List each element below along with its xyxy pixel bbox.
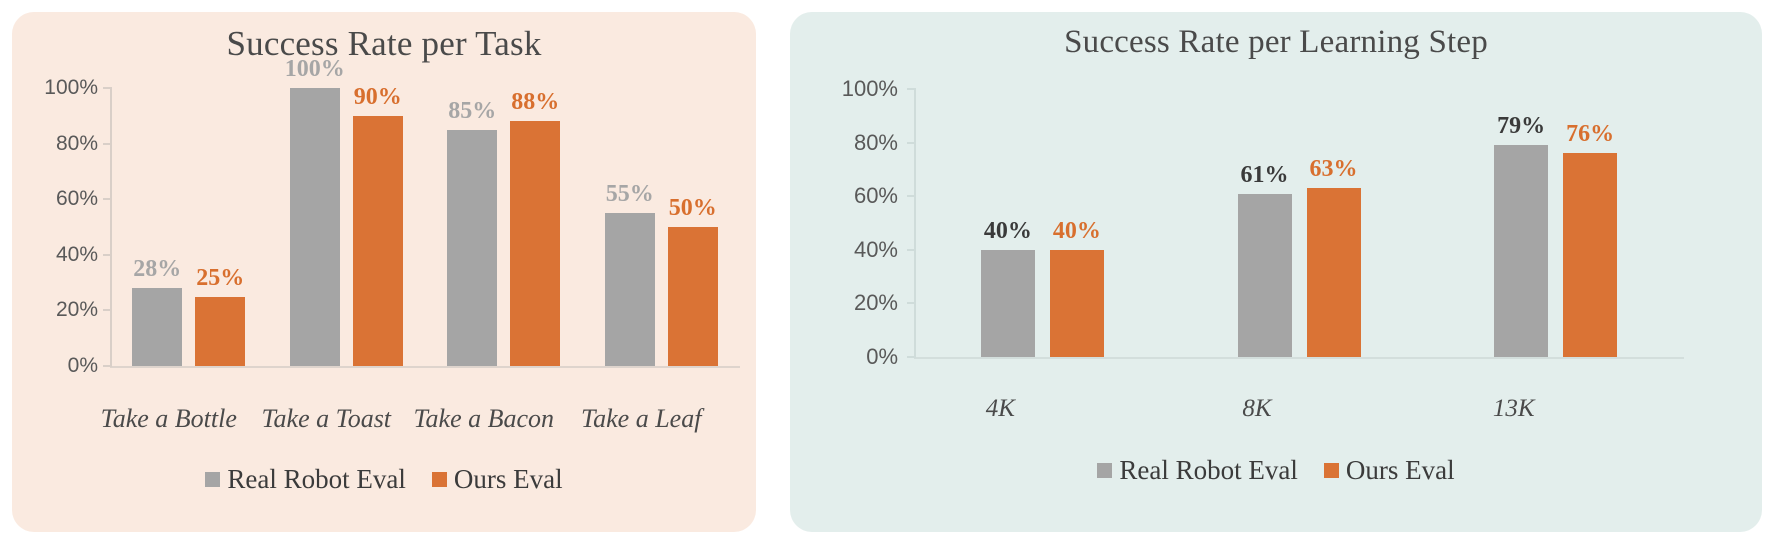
y-axis-tick-mark	[103, 87, 112, 89]
bar[interactable]	[290, 88, 340, 366]
legend-label: Real Robot Eval	[1119, 455, 1297, 486]
legend-item[interactable]: Ours Eval	[1324, 455, 1455, 486]
y-axis-tick-mark	[907, 195, 916, 197]
category-axis: Take a BottleTake a ToastTake a BaconTak…	[12, 400, 756, 450]
y-axis-tick-mark	[907, 142, 916, 144]
legend-item[interactable]: Ours Eval	[432, 464, 563, 495]
y-axis-tick-mark	[103, 365, 112, 367]
bar-value-label: 85%	[448, 98, 496, 125]
legend-swatch-icon	[1097, 463, 1112, 478]
bar[interactable]	[510, 121, 560, 366]
category-label: Take a Bottle	[101, 404, 237, 434]
bar[interactable]	[447, 130, 497, 366]
legend-swatch-icon	[432, 472, 447, 487]
plot-area: 100%80%60%40%20%0% 40%40%61%63%79%76%	[832, 69, 1742, 389]
bar-value-label: 61%	[1241, 162, 1289, 189]
bar-value-label: 88%	[511, 89, 559, 116]
chart-title: Success Rate per Learning Step	[790, 12, 1762, 61]
bar[interactable]	[353, 116, 403, 366]
legend: Real Robot EvalOurs Eval	[12, 464, 756, 495]
legend-item[interactable]: Real Robot Eval	[205, 464, 405, 495]
bar[interactable]	[1494, 145, 1548, 357]
category-axis: 4K8K13K	[790, 389, 1762, 439]
bar-value-label: 100%	[285, 56, 345, 83]
bar-value-label: 40%	[1053, 218, 1101, 245]
bar-value-label: 55%	[606, 181, 654, 208]
y-axis-tick-mark	[103, 309, 112, 311]
bar[interactable]	[1050, 250, 1104, 357]
y-axis-tick-mark	[907, 302, 916, 304]
legend-label: Ours Eval	[454, 464, 563, 495]
bar[interactable]	[605, 213, 655, 366]
category-label: Take a Toast	[261, 404, 391, 434]
legend: Real Robot EvalOurs Eval	[790, 455, 1762, 486]
bar[interactable]	[132, 288, 182, 366]
legend-swatch-icon	[205, 472, 220, 487]
legend-swatch-icon	[1324, 463, 1339, 478]
figure-root: Success Rate per Task 100%80%60%40%20%0%…	[0, 0, 1774, 550]
bar-value-label: 90%	[354, 84, 402, 111]
legend-label: Real Robot Eval	[227, 464, 405, 495]
bar-group: 28%25%100%90%85%88%55%50%	[32, 70, 744, 400]
chart-panel-success-rate-per-task: Success Rate per Task 100%80%60%40%20%0%…	[12, 12, 756, 532]
category-label: Take a Bacon	[413, 404, 554, 434]
y-axis-tick-mark	[907, 88, 916, 90]
bar-value-label: 25%	[196, 265, 244, 292]
bar[interactable]	[1238, 194, 1292, 357]
bar-value-label: 79%	[1497, 113, 1545, 140]
chart-panel-success-rate-per-learning-step: Success Rate per Learning Step 100%80%60…	[790, 12, 1762, 532]
bar-value-label: 63%	[1310, 156, 1358, 183]
bar[interactable]	[668, 227, 718, 366]
category-label: Take a Leaf	[581, 404, 701, 434]
plot-area: 100%80%60%40%20%0% 28%25%100%90%85%88%55…	[32, 70, 744, 400]
y-axis-tick-mark	[907, 356, 916, 358]
y-axis-tick-mark	[103, 143, 112, 145]
bar[interactable]	[1307, 188, 1361, 357]
bar-value-label: 76%	[1566, 121, 1614, 148]
bar-value-label: 50%	[669, 195, 717, 222]
category-label: 4K	[986, 395, 1015, 423]
y-axis-tick-mark	[103, 254, 112, 256]
y-axis-tick-mark	[103, 198, 112, 200]
bar-value-label: 28%	[133, 256, 181, 283]
legend-item[interactable]: Real Robot Eval	[1097, 455, 1297, 486]
legend-label: Ours Eval	[1346, 455, 1455, 486]
category-label: 13K	[1493, 395, 1535, 423]
bar[interactable]	[981, 250, 1035, 357]
category-label: 8K	[1242, 395, 1271, 423]
y-axis-tick-mark	[907, 249, 916, 251]
bar[interactable]	[1563, 153, 1617, 357]
bar-value-label: 40%	[984, 218, 1032, 245]
bar-group: 40%40%61%63%79%76%	[832, 69, 1742, 389]
bar[interactable]	[195, 297, 245, 367]
chart-title: Success Rate per Task	[12, 12, 756, 64]
